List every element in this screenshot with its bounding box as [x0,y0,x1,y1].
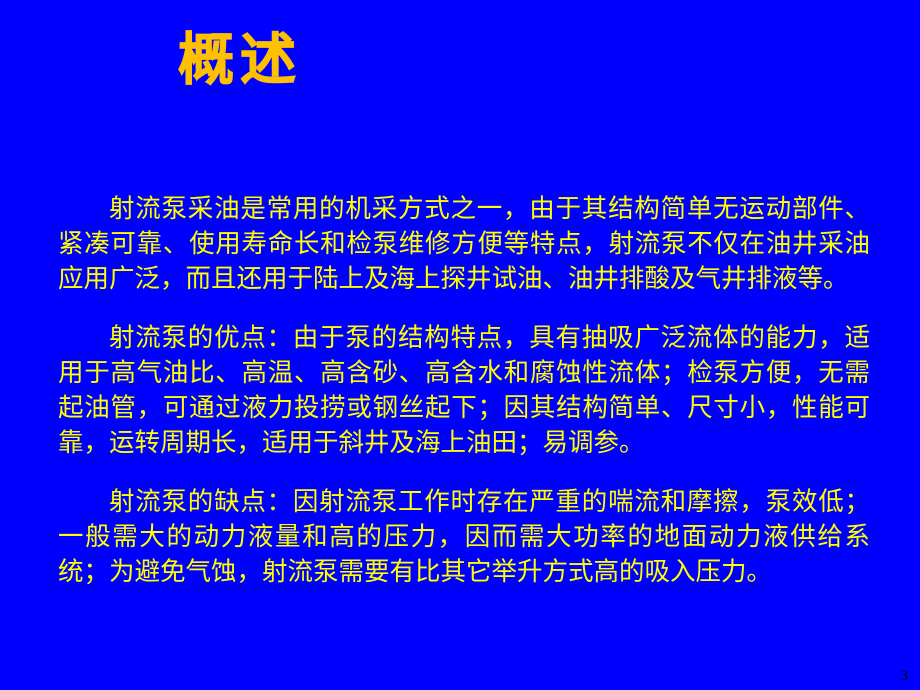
body-paragraph-disadvantages: 射流泵的缺点：因射流泵工作时存在严重的喘流和摩擦，泵效低；一般需大的动力液量和高… [58,485,870,590]
page-title: 概述 [178,28,302,92]
slide-number: 3 [901,669,909,684]
body-paragraph-overview: 射流泵采油是常用的机采方式之一，由于其结构简单无运动部件、紧凑可靠、使用寿命长和… [58,192,870,297]
slide-body: 射流泵采油是常用的机采方式之一，由于其结构简单无运动部件、紧凑可靠、使用寿命长和… [58,192,870,590]
presentation-slide: 概述 射流泵采油是常用的机采方式之一，由于其结构简单无运动部件、紧凑可靠、使用寿… [0,0,920,690]
body-paragraph-advantages: 射流泵的优点：由于泵的结构特点，具有抽吸广泛流体的能力，适用于高气油比、高温、高… [58,321,870,461]
